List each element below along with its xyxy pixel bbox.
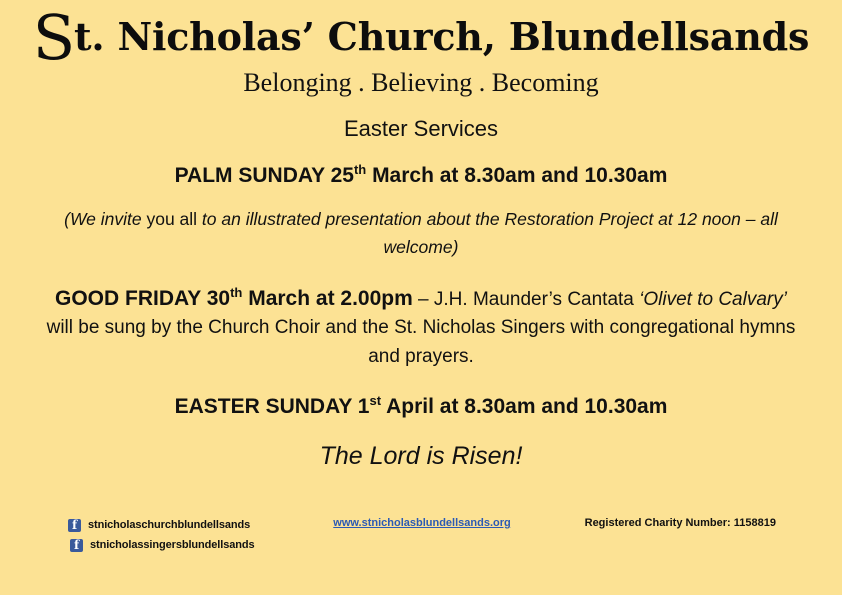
charity-number: Registered Charity Number: 1158819	[585, 517, 776, 529]
note-part-upright: you all	[146, 209, 201, 229]
palm-sunday-note: (We invite you all to an illustrated pre…	[42, 206, 800, 260]
good-friday-ordinal-wrap: th	[230, 287, 242, 310]
poster-content: Easter Services PALM SUNDAY 25th March a…	[0, 117, 842, 471]
easter-sunday-ordinal: st	[369, 393, 381, 408]
easter-services-poster: St. Nicholas’ Church, Blundellsands Belo…	[0, 0, 842, 595]
easter-sunday-lead: EASTER SUNDAY 1	[175, 395, 370, 418]
poster-footer: stnicholaschurchblundellsands stnicholas…	[0, 516, 842, 556]
easter-sunday-rest: April at 8.30am and 10.30am	[381, 395, 667, 418]
good-friday-mid: – J.H. Maunder’s Cantata	[413, 289, 639, 310]
good-friday-bold-rest: March at 2.00pm	[242, 287, 412, 310]
good-friday-lead: GOOD FRIDAY 30	[55, 287, 230, 310]
palm-sunday-heading: PALM SUNDAY 25th March at 8.30am and 10.…	[42, 163, 800, 189]
title-dropcap: S	[33, 1, 75, 74]
title-text: t. Nicholas’ Church, Blundellsands	[74, 14, 809, 59]
website-link[interactable]: www.stnicholasblundellsands.org	[333, 517, 510, 529]
good-friday-paragraph: GOOD FRIDAY 30th March at 2.00pm – J.H. …	[42, 283, 800, 372]
lord-is-risen-text: The Lord is Risen!	[42, 441, 800, 471]
footer-inner: stnicholaschurchblundellsands stnicholas…	[68, 516, 776, 556]
palm-sunday-lead: PALM SUNDAY 25	[175, 164, 354, 187]
facebook-icon	[70, 539, 83, 552]
social-links: stnicholaschurchblundellsands stnicholas…	[68, 516, 255, 556]
church-tagline: Belonging . Believing . Becoming	[0, 70, 842, 96]
palm-sunday-rest: March at 8.30am and 10.30am	[366, 164, 667, 187]
social-row-church[interactable]: stnicholaschurchblundellsands	[68, 516, 255, 534]
good-friday-ordinal: th	[230, 285, 242, 300]
church-title: St. Nicholas’ Church, Blundellsands	[0, 18, 842, 56]
note-part-three: to an illustrated presentation about the…	[202, 209, 778, 256]
facebook-icon	[68, 519, 81, 532]
poster-header: St. Nicholas’ Church, Blundellsands Belo…	[0, 0, 842, 96]
easter-sunday-heading: EASTER SUNDAY 1st April at 8.30am and 10…	[42, 394, 800, 420]
facebook-singers-label: stnicholassingersblundellsands	[90, 539, 255, 551]
good-friday-end: will be sung by the Church Choir and the…	[47, 317, 796, 367]
facebook-church-label: stnicholaschurchblundellsands	[88, 519, 250, 531]
easter-services-subtitle: Easter Services	[42, 117, 800, 141]
note-part-one: (We invite	[64, 209, 146, 229]
cantata-title: ‘Olivet to Calvary’	[639, 289, 787, 310]
social-row-singers[interactable]: stnicholassingersblundellsands	[68, 536, 255, 554]
palm-sunday-ordinal: th	[354, 162, 366, 177]
